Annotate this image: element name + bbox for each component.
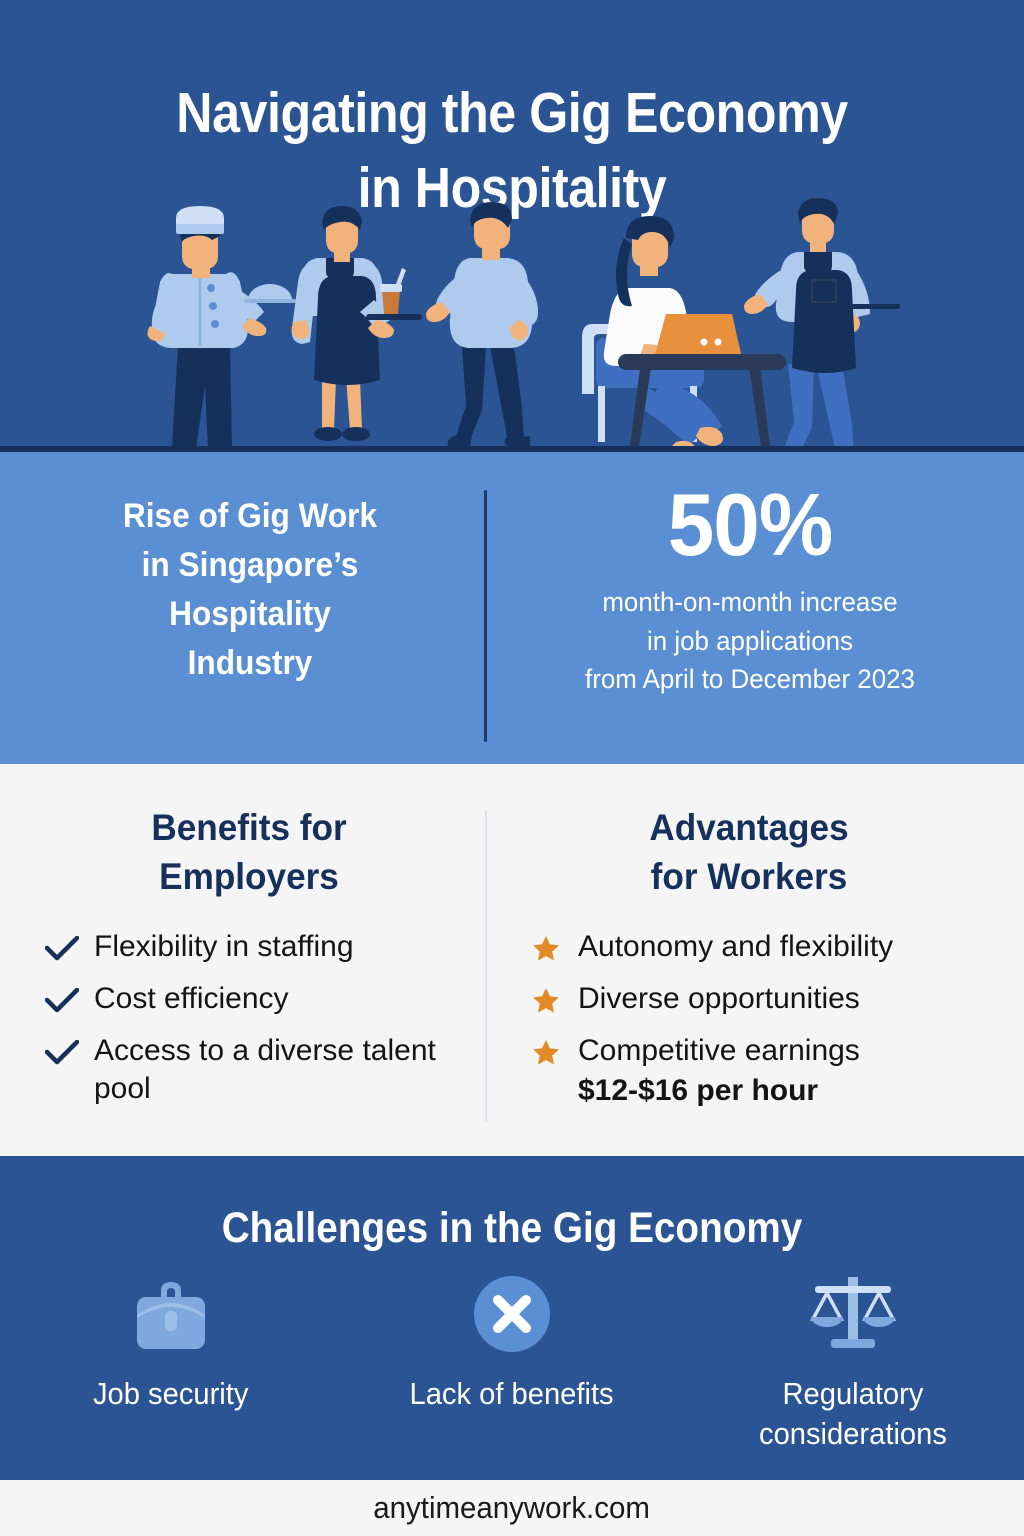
website-url: anytimeanywork.com [374, 1490, 651, 1526]
check-icon [42, 1034, 82, 1072]
employers-list: Flexibility in staffing Cost efficiency … [6, 928, 492, 1109]
list-item-label: Autonomy and flexibility [578, 928, 992, 966]
challenge-label: Lack of benefits [410, 1374, 614, 1414]
list-item: Autonomy and flexibility [526, 928, 992, 968]
list-item: Competitive earnings $12-$16 per hour [526, 1032, 992, 1111]
illustration-figure-waitress [291, 206, 422, 441]
challenges-section: Challenges in the Gig Economy Job securi… [0, 1156, 1024, 1480]
challenge-item-regulatory: Regulatory considerations [683, 1268, 1024, 1455]
illustration-figure-apron-worker [744, 198, 900, 452]
stat-sub-text: month-on-month increase in job applicati… [510, 583, 990, 698]
circle-x-icon [471, 1268, 553, 1360]
stat-band-section: Rise of Gig Work in Singapore’s Hospital… [0, 452, 1024, 764]
employers-heading: Benefits for Employers [18, 764, 480, 902]
earnings-range: $12-$16 per hour [578, 1072, 992, 1110]
list-item: Cost efficiency [42, 980, 492, 1020]
illustration-figure-seated-woman [582, 216, 786, 452]
list-item: Diverse opportunities [526, 980, 992, 1020]
list-item-label: Competitive earnings $12-$16 per hour [578, 1032, 992, 1111]
star-icon [526, 1034, 566, 1072]
hero-section: Navigating the Gig Economy in Hospitalit… [0, 0, 1024, 452]
footer: anytimeanywork.com [0, 1480, 1024, 1536]
employers-column: Benefits for Employers Flexibility in st… [6, 764, 492, 1156]
star-icon [526, 982, 566, 1020]
workers-column: Advantages for Workers Autonomy and flex… [506, 764, 992, 1156]
challenges-row: Job security Lack of benefits [0, 1268, 1024, 1455]
scales-icon [805, 1268, 901, 1360]
list-item-label: Diverse opportunities [578, 980, 992, 1018]
stat-vertical-divider [484, 490, 487, 742]
workers-heading: Advantages for Workers [518, 764, 980, 902]
check-icon [42, 982, 82, 1020]
list-item-text: Competitive earnings [578, 1034, 860, 1067]
challenge-item-job-security: Job security [0, 1268, 341, 1455]
challenge-item-lack-of-benefits: Lack of benefits [341, 1268, 682, 1455]
list-item: Access to a diverse talent pool [42, 1032, 492, 1109]
stat-band-heading: Rise of Gig Work in Singapore’s Hospital… [55, 492, 446, 688]
stat-big-number: 50% [513, 474, 988, 575]
benefits-section: Benefits for Employers Flexibility in st… [0, 764, 1024, 1156]
hospitality-gig-workers-illustration [0, 196, 1024, 452]
list-item: Flexibility in staffing [42, 928, 492, 968]
list-item-label: Access to a diverse talent pool [94, 1032, 492, 1109]
challenge-label: Regulatory considerations [759, 1374, 947, 1455]
list-item-label: Cost efficiency [94, 980, 492, 1018]
illustration-figure-walking-man [426, 202, 538, 446]
check-icon [42, 930, 82, 968]
workers-list: Autonomy and flexibility Diverse opportu… [506, 928, 992, 1111]
illustration-figure-chef [147, 206, 296, 448]
list-item-label: Flexibility in staffing [94, 928, 492, 966]
challenges-heading: Challenges in the Gig Economy [51, 1156, 973, 1253]
infographic-page: Navigating the Gig Economy in Hospitalit… [0, 0, 1024, 1536]
challenge-label: Job security [93, 1374, 248, 1414]
star-icon [526, 930, 566, 968]
briefcase-icon [129, 1268, 213, 1360]
stat-band-figure: 50% month-on-month increase in job appli… [500, 474, 1000, 698]
